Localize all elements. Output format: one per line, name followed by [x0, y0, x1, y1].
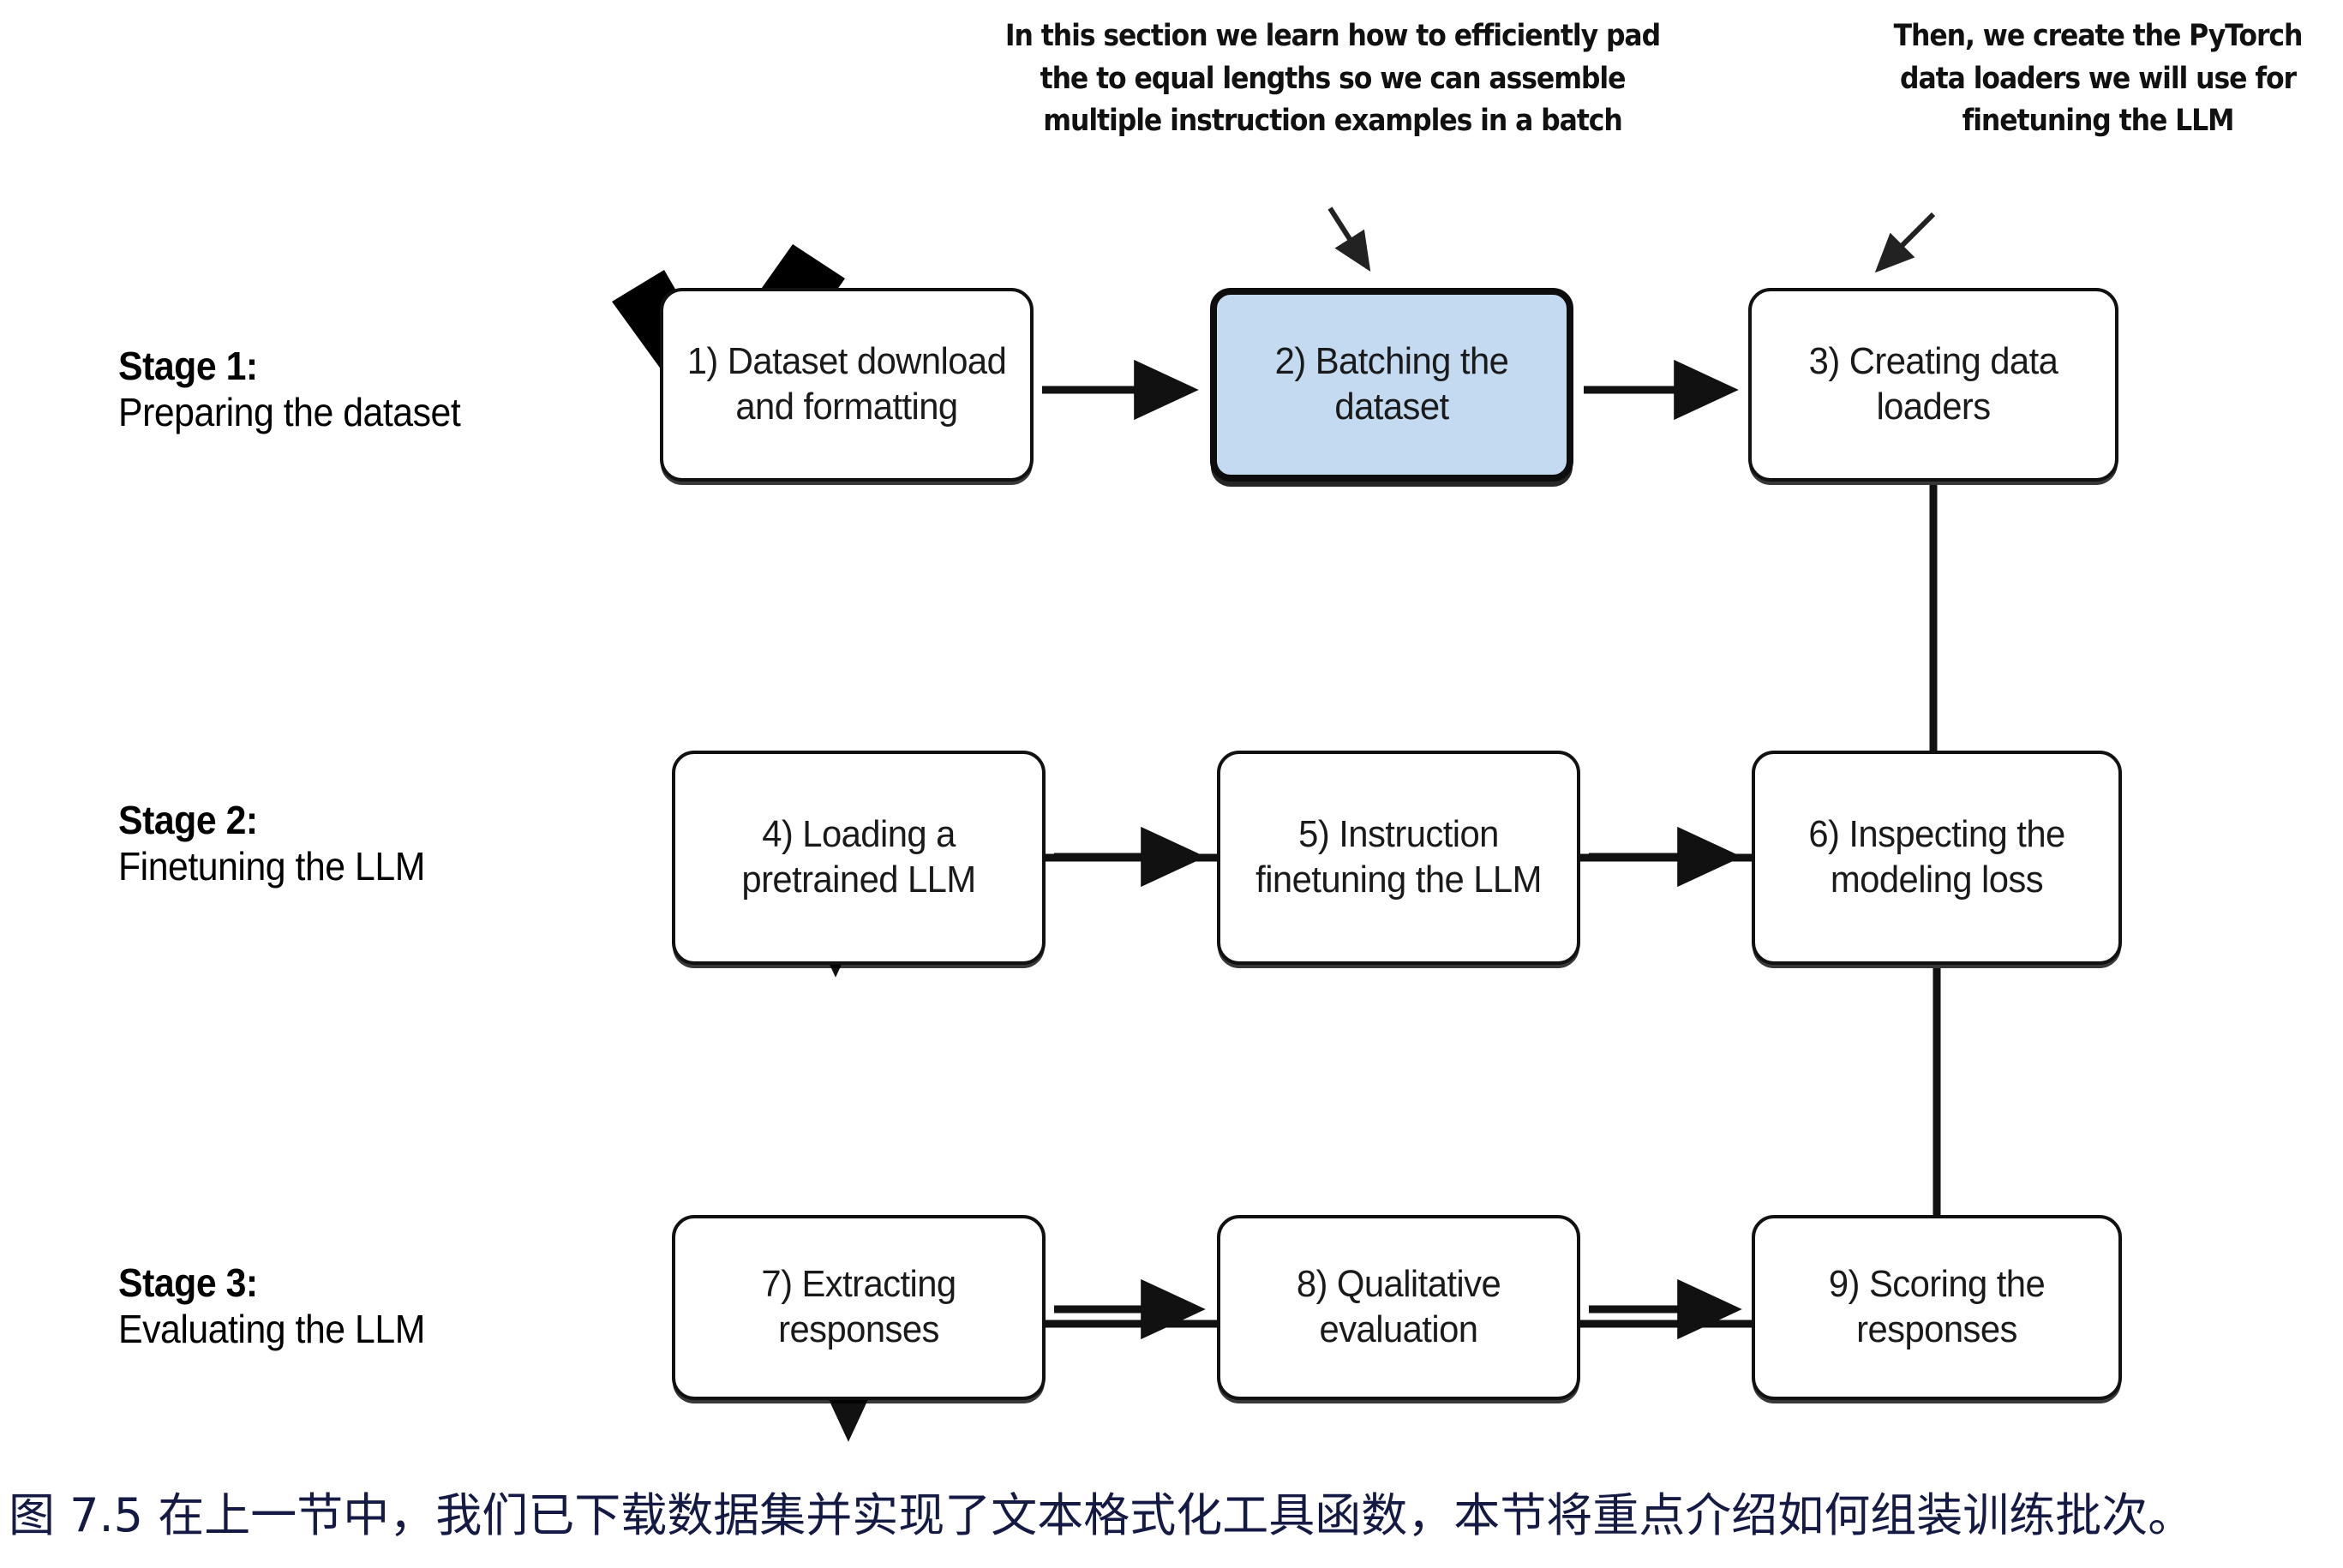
flow-node-5[interactable]: 5) Instruction finetuning the LLM: [1217, 751, 1580, 965]
flow-node-5-label: 5) Instruction finetuning the LLM: [1237, 812, 1560, 903]
stage-2-title: Stage 2:: [118, 797, 628, 843]
flow-node-9[interactable]: 9) Scoring the responses: [1752, 1215, 2122, 1400]
flow-node-4-label: 4) Loading a pretrained LLM: [692, 812, 1025, 903]
stage-label-1: Stage 1: Preparing the dataset: [118, 343, 628, 436]
flow-node-7-label: 7) Extracting responses: [692, 1262, 1025, 1353]
stage-3-subtitle: Evaluating the LLM: [118, 1306, 628, 1352]
flow-node-2-label: 2) Batching the dataset: [1234, 339, 1550, 430]
flow-node-6[interactable]: 6) Inspecting the modeling loss: [1752, 751, 2122, 965]
flow-node-9-label: 9) Scoring the responses: [1772, 1262, 2101, 1353]
stage-1-subtitle: Preparing the dataset: [118, 389, 628, 435]
figure-caption: 图 7.5 在上一节中，我们已下载数据集并实现了文本格式化工具函数，本节将重点介…: [9, 1489, 2343, 1542]
flow-node-2[interactable]: 2) Batching the dataset: [1210, 288, 1573, 482]
flow-node-4[interactable]: 4) Loading a pretrained LLM: [672, 751, 1046, 965]
flow-node-7[interactable]: 7) Extracting responses: [672, 1215, 1046, 1400]
figure-canvas: In this section we learn how to efficien…: [0, 0, 2343, 1568]
stage-label-2: Stage 2: Finetuning the LLM: [118, 797, 628, 890]
annotation-dataloaders: Then, we create the PyTorch data loaders…: [1882, 15, 2314, 143]
flow-node-3[interactable]: 3) Creating data loaders: [1748, 288, 2118, 482]
flow-node-8-label: 8) Qualitative evaluation: [1237, 1262, 1560, 1353]
stage-1-title: Stage 1:: [118, 343, 628, 389]
stage-2-subtitle: Finetuning the LLM: [118, 843, 628, 889]
flow-node-1-label: 1) Dataset download and formatting: [680, 339, 1013, 430]
annotation-arrow-batching: [1330, 208, 1368, 267]
annotation-arrow-dataloaders: [1879, 214, 1933, 269]
stage-3-title: Stage 3:: [118, 1260, 628, 1306]
flow-node-8[interactable]: 8) Qualitative evaluation: [1217, 1215, 1580, 1400]
flow-node-3-label: 3) Creating data loaders: [1769, 339, 2098, 430]
flow-node-1[interactable]: 1) Dataset download and formatting: [660, 288, 1034, 482]
stage-label-3: Stage 3: Evaluating the LLM: [118, 1260, 628, 1353]
annotation-batching: In this section we learn how to efficien…: [986, 15, 1680, 143]
flow-node-6-label: 6) Inspecting the modeling loss: [1772, 812, 2101, 903]
